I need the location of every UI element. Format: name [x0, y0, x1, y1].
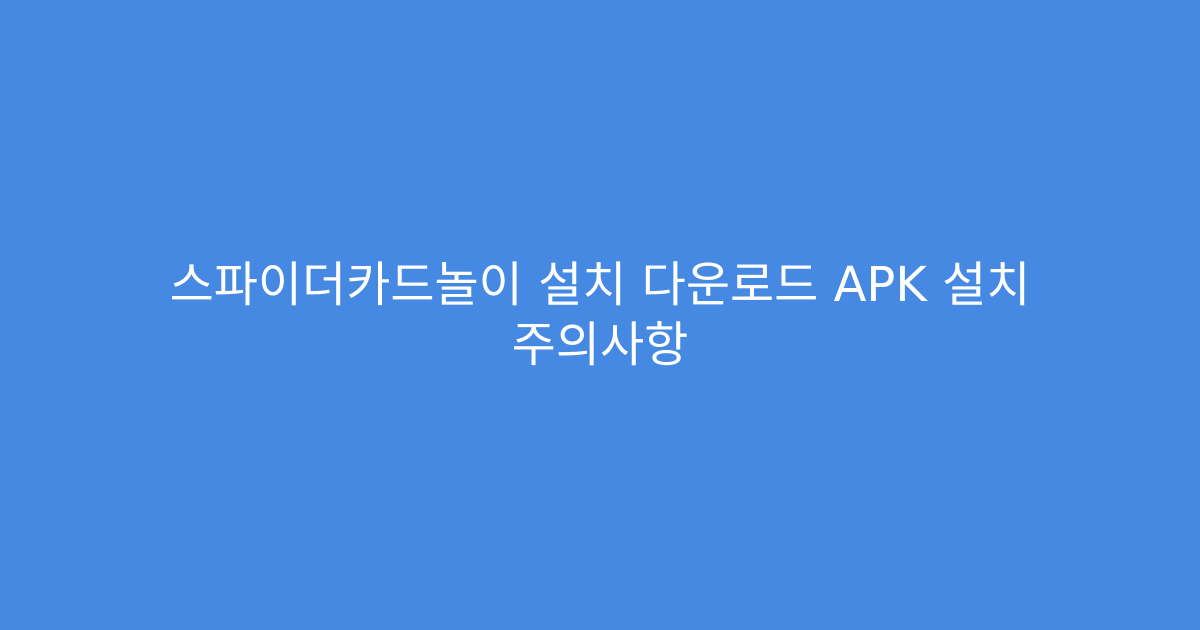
share-card: 스파이더카드놀이 설치 다운로드 APK 설치 주의사항: [0, 0, 1200, 630]
page-title: 스파이더카드놀이 설치 다운로드 APK 설치 주의사항: [135, 255, 1065, 375]
card-content: 스파이더카드놀이 설치 다운로드 APK 설치 주의사항: [70, 255, 1130, 375]
